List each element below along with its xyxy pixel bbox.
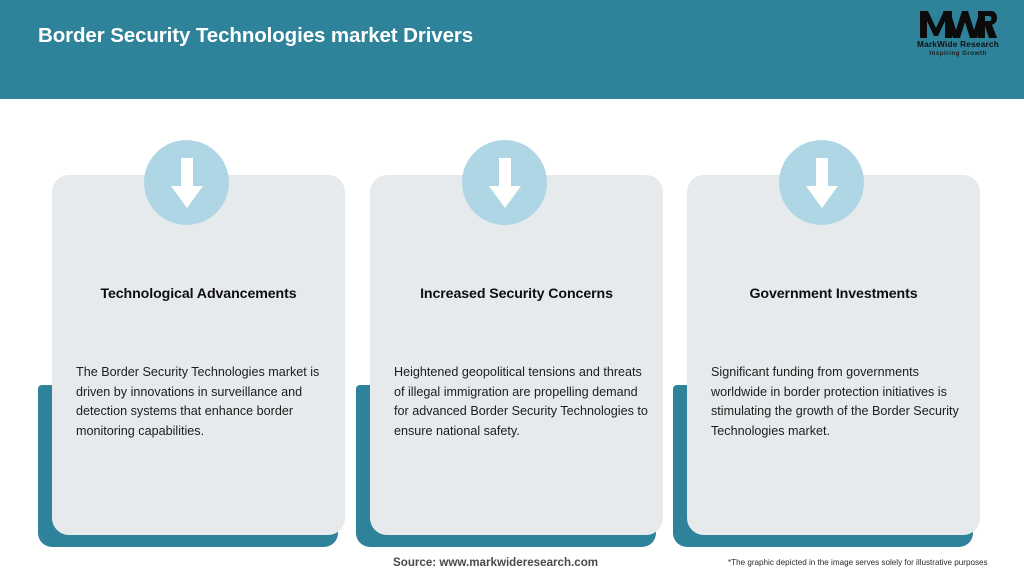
driver-card-title: Technological Advancements: [52, 286, 345, 302]
driver-card-group: Government Investments Significant fundi…: [673, 140, 980, 550]
logo-company-name: MarkWide Research: [906, 40, 1010, 50]
down-arrow-glyph: [487, 156, 523, 210]
down-arrow-glyph: [169, 156, 205, 210]
logo-mark-icon: [919, 8, 997, 40]
logo: MarkWide Research Inspiring Growth: [906, 8, 1010, 62]
header-bar: Border Security Technologies market Driv…: [0, 0, 1024, 99]
driver-card-title: Government Investments: [687, 286, 980, 302]
footer-source-text: Source: www.markwideresearch.com: [393, 556, 598, 569]
driver-card[interactable]: Technological Advancements The Border Se…: [52, 175, 345, 535]
driver-card-body: Significant funding from governments wor…: [711, 363, 967, 441]
down-arrow-icon: [462, 140, 547, 225]
driver-card[interactable]: Increased Security Concerns Heightened g…: [370, 175, 663, 535]
driver-card-body: The Border Security Technologies market …: [76, 363, 332, 441]
down-arrow-glyph: [804, 156, 840, 210]
driver-card-title: Increased Security Concerns: [370, 286, 663, 302]
page-title: Border Security Technologies market Driv…: [38, 24, 473, 48]
down-arrow-icon: [144, 140, 229, 225]
driver-card-group: Increased Security Concerns Heightened g…: [356, 140, 663, 550]
footer-disclaimer-text: *The graphic depicted in the image serve…: [728, 558, 988, 567]
down-arrow-icon: [779, 140, 864, 225]
logo-tagline: Inspiring Growth: [906, 50, 1010, 58]
driver-card-body: Heightened geopolitical tensions and thr…: [394, 363, 650, 441]
driver-card-group: Technological Advancements The Border Se…: [38, 140, 345, 550]
driver-card[interactable]: Government Investments Significant fundi…: [687, 175, 980, 535]
